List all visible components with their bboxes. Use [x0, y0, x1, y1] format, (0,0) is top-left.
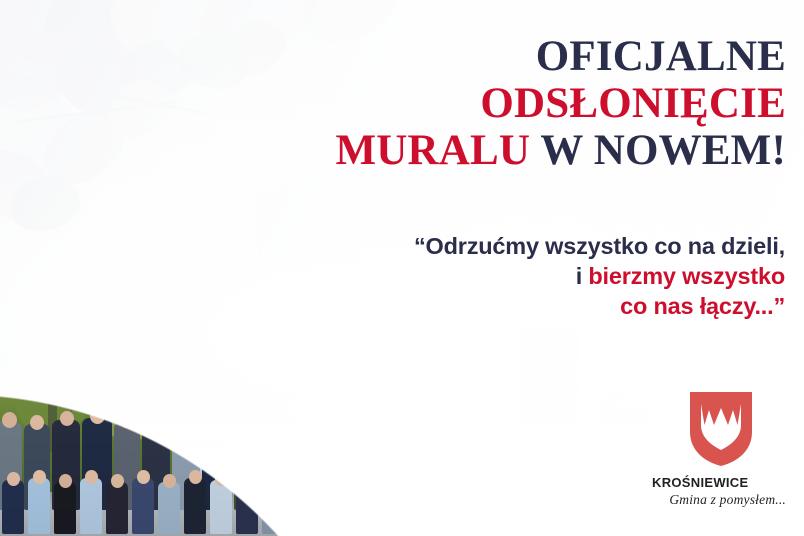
event-photo: „ODRZUĆMY WSZYSTKO, CO NAS DZIELI, BIERZ… [0, 264, 560, 536]
photo-tone-overlay [0, 264, 560, 536]
shield-container [646, 392, 796, 466]
headline-line1-dark: OFICJALNE [536, 33, 786, 80]
municipality-logo: KROŚNIEWICE Gmina z pomysłem... [646, 392, 796, 508]
headline-line1-red: ODSŁONIĘCIE [480, 80, 786, 127]
quote-line-1: “Odrzućmy wszystko co na dzieli, [330, 231, 785, 261]
quote-line2-red: bierzmy wszystko [588, 263, 785, 289]
headline-line-2: MURALU W NOWEM! [250, 127, 786, 174]
headline-line2-dark: W NOWEM! [530, 127, 786, 174]
poster-canvas: OFICJALNE ODSŁONIĘCIE MURALU W NOWEM! “O… [0, 0, 804, 536]
logo-tagline: Gmina z pomysłem... [646, 492, 796, 508]
poster-headline: OFICJALNE ODSŁONIĘCIE MURALU W NOWEM! [250, 33, 786, 174]
logo-municipality-name: KROŚNIEWICE [646, 475, 796, 490]
headline-line2-red: MURALU [335, 127, 530, 174]
quote-line2-dark: i [576, 263, 589, 289]
headline-line-1: OFICJALNE ODSŁONIĘCIE [250, 33, 786, 127]
event-photo-content: „ODRZUĆMY WSZYSTKO, CO NAS DZIELI, BIERZ… [0, 264, 560, 536]
shield-with-w-icon [690, 392, 752, 466]
